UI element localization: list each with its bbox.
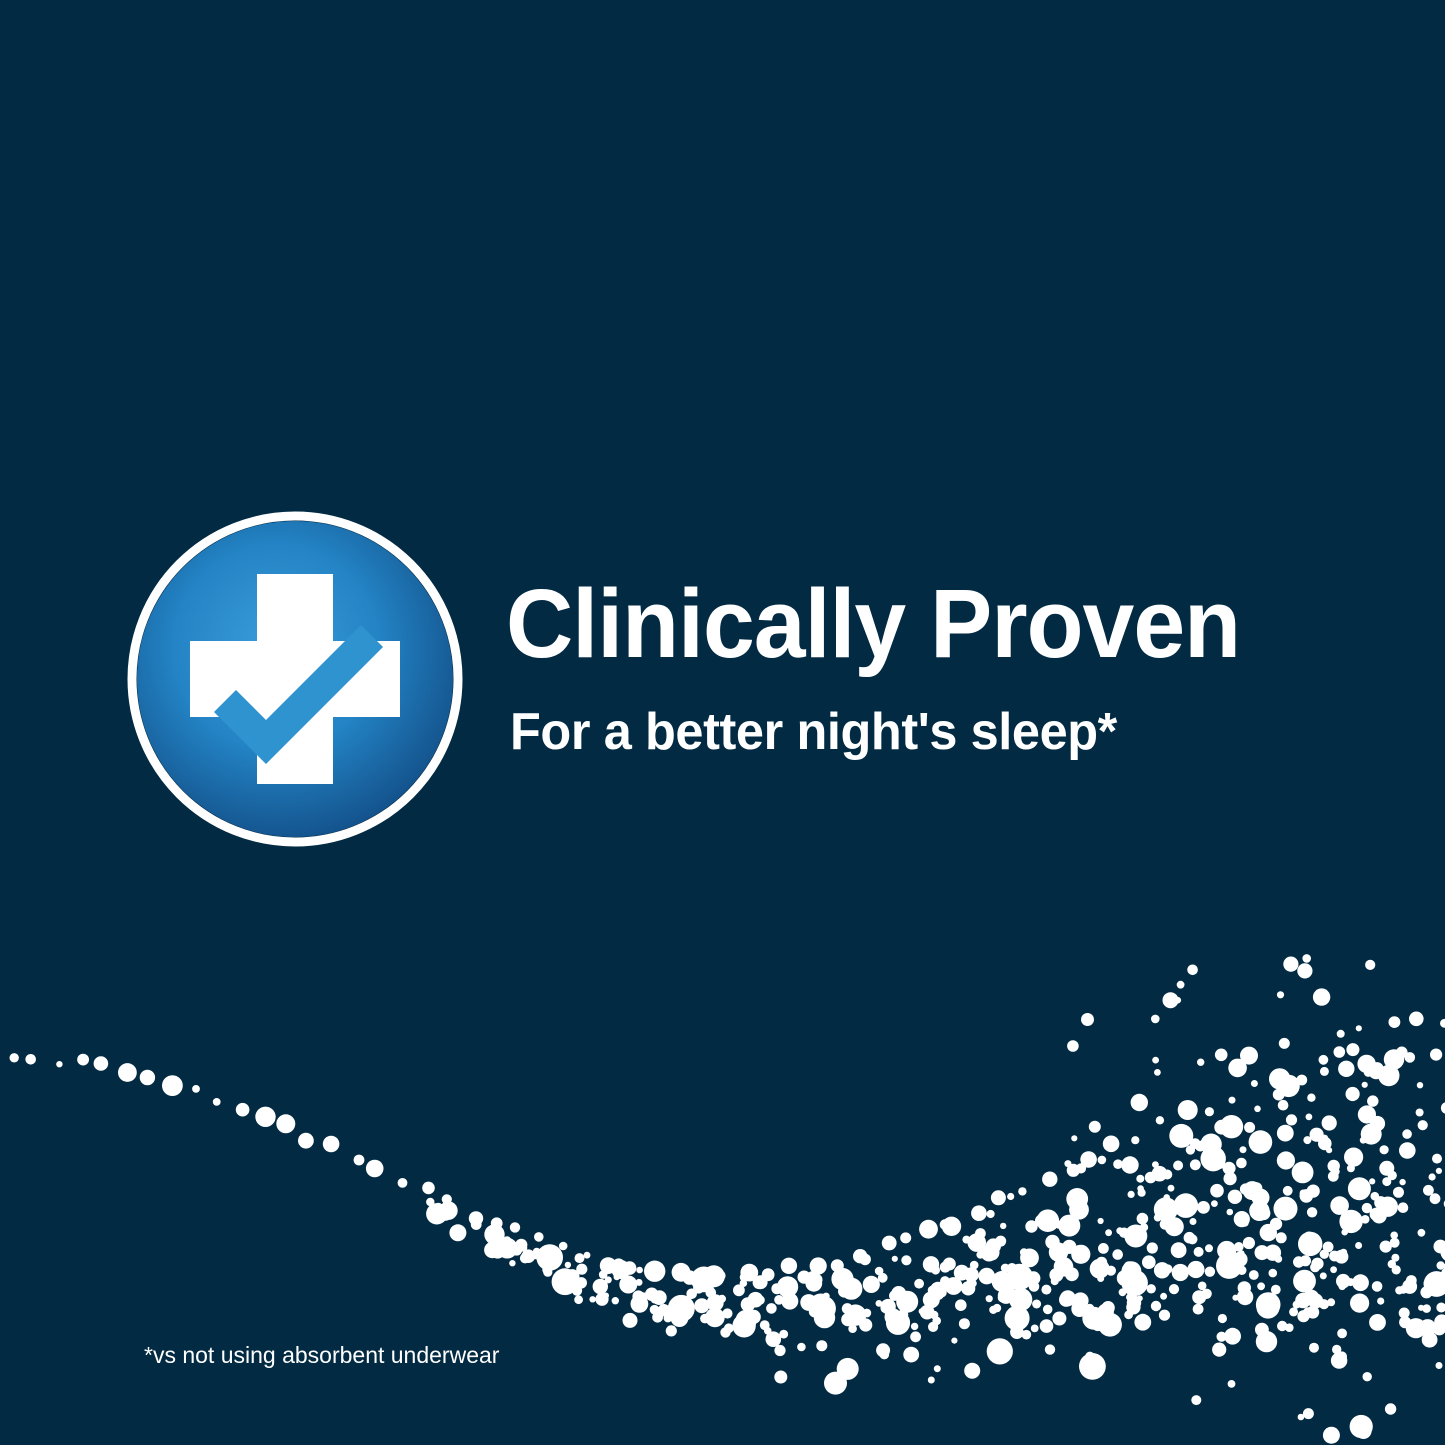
footnote-disclaimer: *vs not using absorbent underwear xyxy=(144,1344,499,1367)
page-subtitle: For a better night's sleep* xyxy=(510,706,1117,758)
promo-canvas: Clinically Proven For a better night's s… xyxy=(0,0,1445,1445)
page-title: Clinically Proven xyxy=(506,575,1240,672)
clinically-proven-badge xyxy=(126,510,464,848)
